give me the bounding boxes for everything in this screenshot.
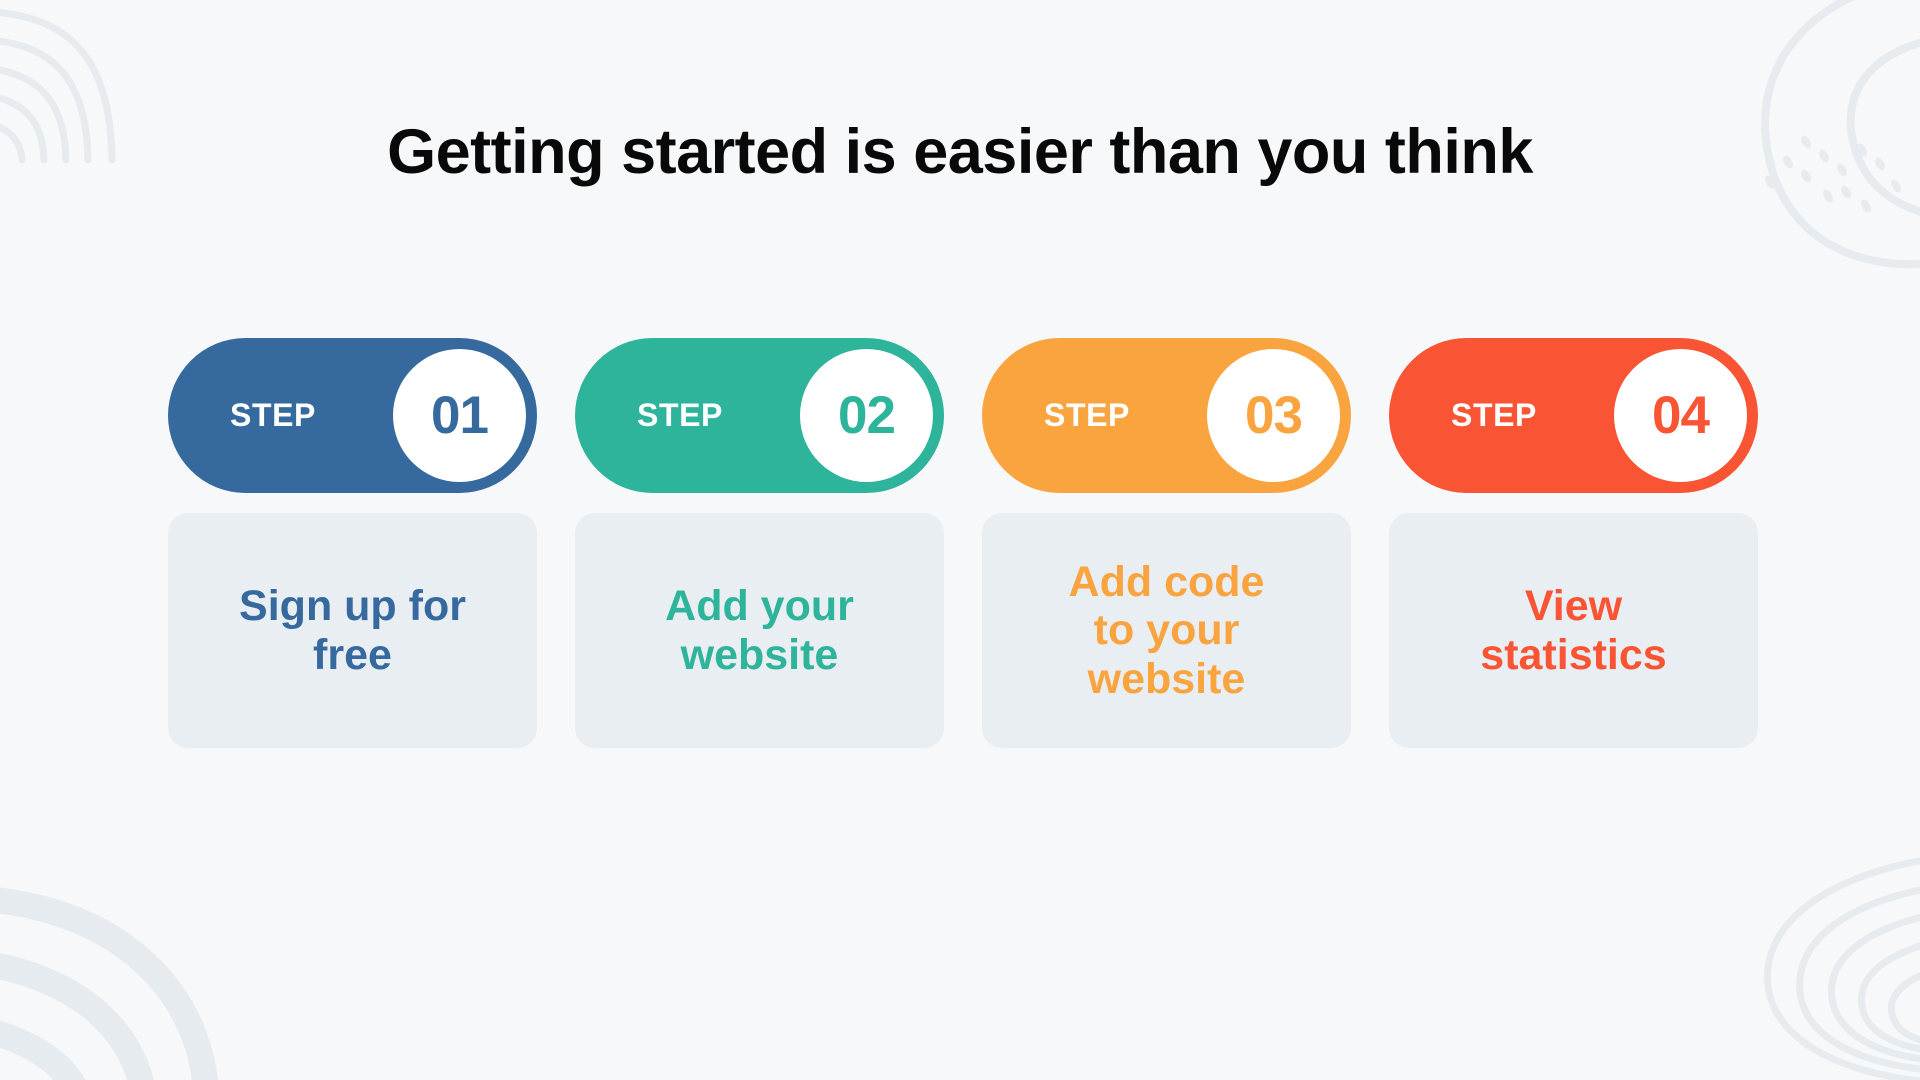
step-number-circle-4: 04: [1614, 349, 1747, 482]
step-number-4: 04: [1652, 389, 1709, 442]
step-number-3: 03: [1245, 389, 1302, 442]
step-card-text-4: View statistics: [1480, 582, 1666, 678]
step-badge-2[interactable]: STEP 02: [575, 338, 944, 493]
step-card-1[interactable]: Sign up for free: [168, 513, 537, 748]
step-card-text-2: Add your website: [665, 582, 854, 678]
page-title: Getting started is easier than you think: [0, 118, 1920, 187]
step-number-circle-3: 03: [1207, 349, 1340, 482]
step-card-text-3: Add code to your website: [1069, 558, 1265, 702]
step-card-text-1: Sign up for free: [239, 582, 466, 678]
step-badge-label-2: STEP: [637, 397, 723, 434]
step-number-1: 01: [431, 389, 488, 442]
step-card-2[interactable]: Add your website: [575, 513, 944, 748]
step-badge-label-3: STEP: [1044, 397, 1130, 434]
step-badge-3[interactable]: STEP 03: [982, 338, 1351, 493]
step-column-1: STEP 01 Sign up for free: [168, 338, 537, 748]
step-column-3: STEP 03 Add code to your website: [982, 338, 1351, 748]
step-card-3[interactable]: Add code to your website: [982, 513, 1351, 748]
step-badge-4[interactable]: STEP 04: [1389, 338, 1758, 493]
step-number-circle-1: 01: [393, 349, 526, 482]
step-badge-label-4: STEP: [1451, 397, 1537, 434]
step-badge-1[interactable]: STEP 01: [168, 338, 537, 493]
step-number-circle-2: 02: [800, 349, 933, 482]
step-column-4: STEP 04 View statistics: [1389, 338, 1758, 748]
step-number-2: 02: [838, 389, 895, 442]
step-column-2: STEP 02 Add your website: [575, 338, 944, 748]
step-card-4[interactable]: View statistics: [1389, 513, 1758, 748]
step-badge-label-1: STEP: [230, 397, 316, 434]
steps-row: STEP 01 Sign up for free STEP 02 Add you…: [168, 338, 1758, 748]
